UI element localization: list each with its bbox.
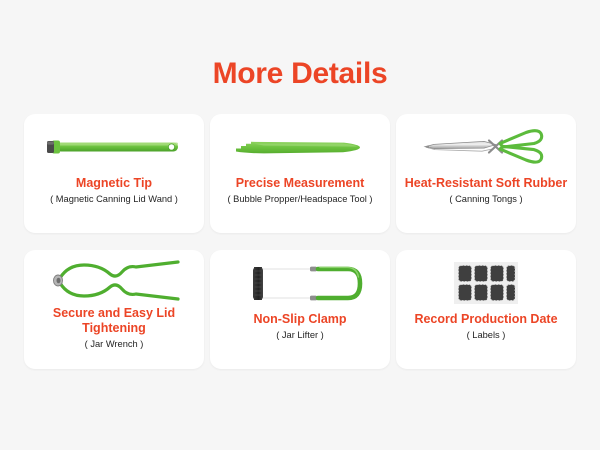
feature-card-non-slip-clamp[interactable]: Non-Slip Clamp ( Jar Lifter ) [210,250,390,369]
card-title: Heat-Resistant Soft Rubber [402,176,570,191]
card-title: Secure and Easy Lid Tightening [30,306,198,336]
card-subtitle: ( Jar Lifter ) [216,329,384,342]
bubble-propper-icon [210,114,390,176]
product-details-page: More Details [0,0,600,450]
card-subtitle: ( Magnetic Canning Lid Wand ) [30,193,198,206]
feature-card-lid-tightening[interactable]: Secure and Easy Lid Tightening ( Jar Wre… [24,250,204,369]
card-text: Secure and Easy Lid Tightening ( Jar Wre… [24,306,204,351]
feature-card-record-date[interactable]: Record Production Date ( Labels ) [396,250,576,369]
jar-wrench-icon [24,250,204,306]
card-text: Precise Measurement ( Bubble Propper/Hea… [210,176,390,206]
jar-lifter-icon [210,250,390,312]
canning-lid-wand-icon [24,114,204,176]
page-title: More Details [0,0,600,91]
feature-card-precise-measurement[interactable]: Precise Measurement ( Bubble Propper/Hea… [210,114,390,233]
card-title: Precise Measurement [216,176,384,191]
card-subtitle: ( Canning Tongs ) [402,193,570,206]
card-text: Non-Slip Clamp ( Jar Lifter ) [210,312,390,342]
feature-card-magnetic-tip[interactable]: Magnetic Tip ( Magnetic Canning Lid Wand… [24,114,204,233]
card-subtitle: ( Jar Wrench ) [30,338,198,351]
card-title: Record Production Date [402,312,570,327]
card-title: Magnetic Tip [30,176,198,191]
canning-tongs-icon [396,114,576,176]
labels-sheet-icon [396,250,576,312]
feature-card-heat-resistant[interactable]: Heat-Resistant Soft Rubber ( Canning Ton… [396,114,576,233]
card-subtitle: ( Bubble Propper/Headspace Tool ) [216,193,384,206]
card-text: Magnetic Tip ( Magnetic Canning Lid Wand… [24,176,204,206]
card-text: Record Production Date ( Labels ) [396,312,576,342]
feature-card-grid: Magnetic Tip ( Magnetic Canning Lid Wand… [24,91,576,369]
card-title: Non-Slip Clamp [216,312,384,327]
card-text: Heat-Resistant Soft Rubber ( Canning Ton… [396,176,576,206]
card-subtitle: ( Labels ) [402,329,570,342]
